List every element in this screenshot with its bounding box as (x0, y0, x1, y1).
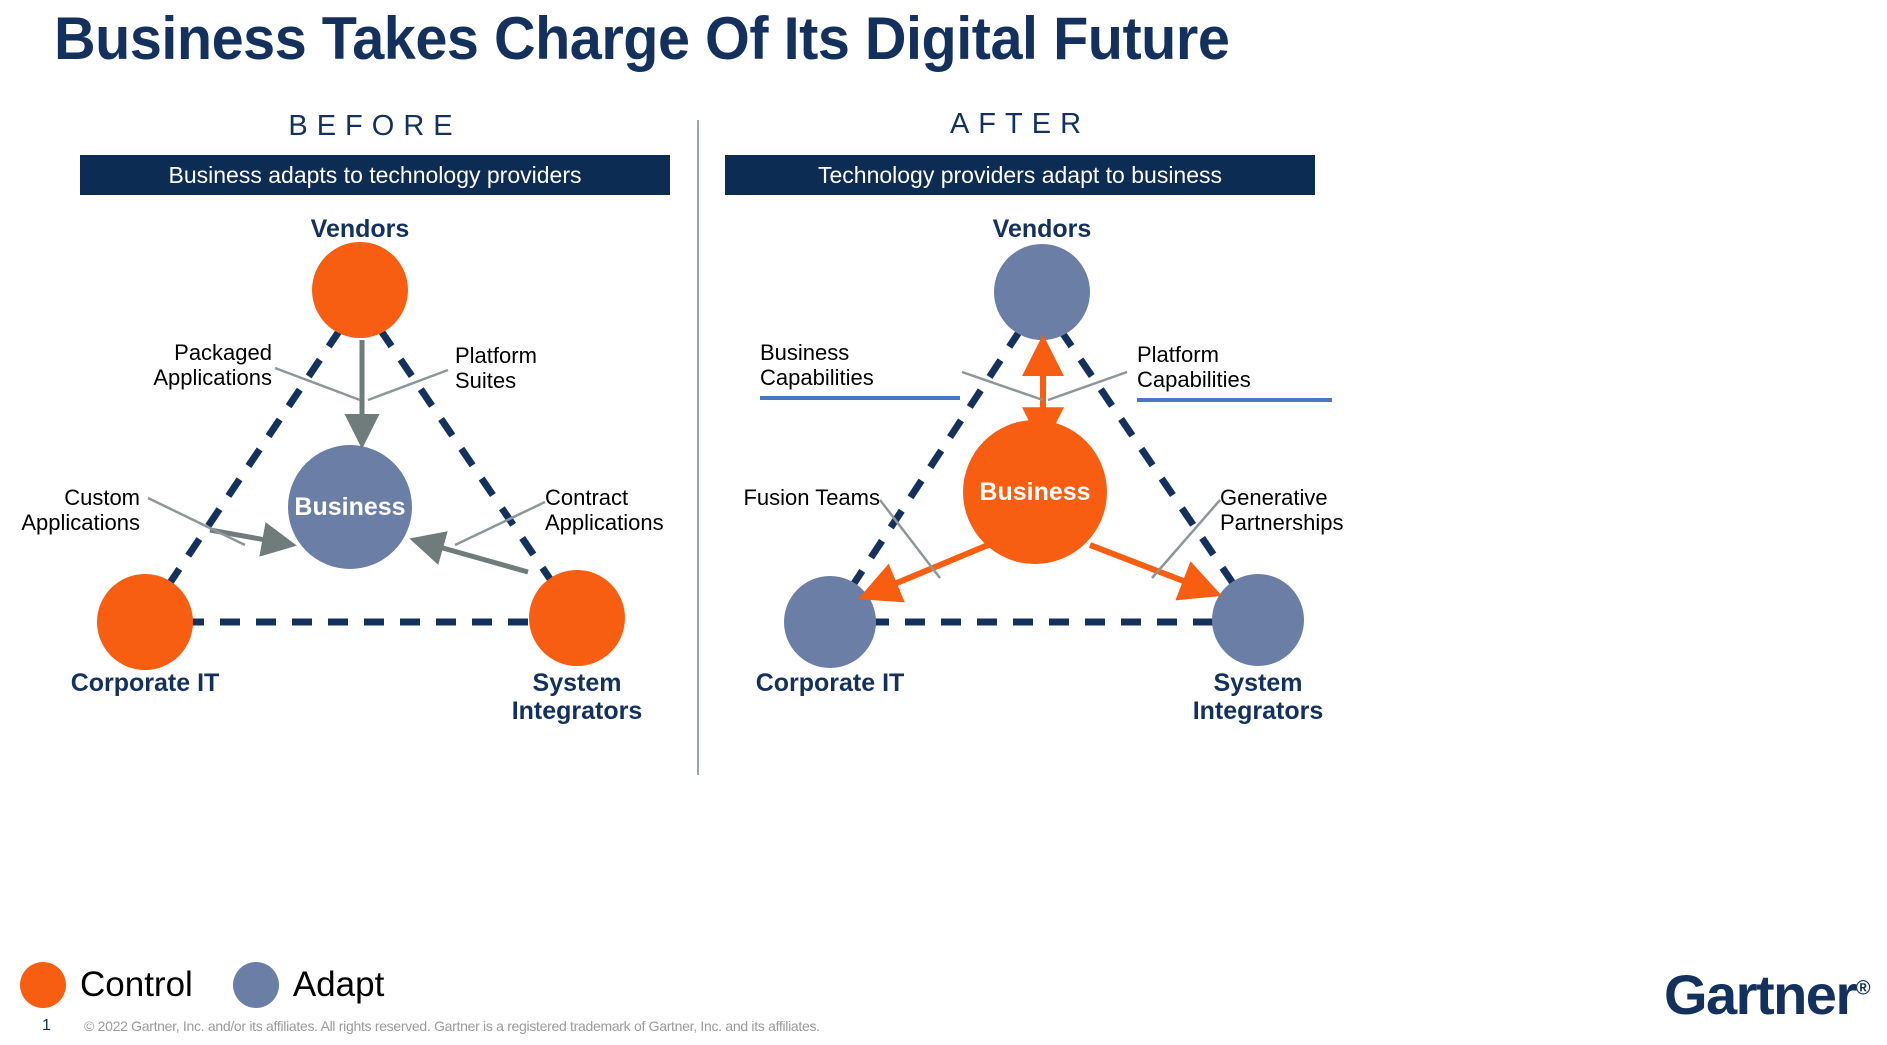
arrow-business-to-corporate-it (868, 545, 988, 595)
legend-item-control: Control (20, 962, 193, 1008)
system-line-1: System (533, 669, 622, 697)
custom-line-2: Applications (21, 510, 140, 535)
packaged-line-1: Packaged (174, 340, 272, 365)
legend-item-adapt: Adapt (233, 962, 384, 1008)
arrow-corporate-it-to-business (210, 530, 288, 544)
panel-banner-before: Business adapts to technology providers (80, 155, 670, 195)
underline-business-capabilities (760, 396, 960, 400)
node-label-corporate-it-before: Corporate IT (45, 670, 245, 698)
node-label-system-integrators-after: System Integrators (1158, 670, 1358, 725)
generative-line-1: Generative (1220, 485, 1328, 510)
platcap-line-2: Capabilities (1137, 367, 1251, 392)
node-vendors-after[interactable] (994, 244, 1090, 340)
gartner-logo-text: Gartner (1664, 963, 1856, 1026)
node-system-integrators-before[interactable] (529, 570, 625, 666)
contract-line-1: Contract (545, 485, 628, 510)
conn-label-fusion-teams: Fusion Teams (680, 485, 880, 510)
packaged-line-2: Applications (153, 365, 272, 390)
platform-line-2: Suites (455, 368, 516, 393)
registered-mark-icon: ® (1856, 977, 1869, 999)
platcap-line-1: Platform (1137, 342, 1219, 367)
node-vendors-before[interactable] (312, 242, 408, 338)
conn-label-custom-applications: Custom Applications (0, 485, 140, 536)
node-corporate-it-after[interactable] (784, 576, 876, 668)
conn-label-platform-capabilities: Platform Capabilities (1137, 342, 1332, 405)
legend-dot-adapt-icon (233, 962, 279, 1008)
system-line-2: Integrators (1193, 697, 1324, 725)
node-text-business-before: Business (250, 493, 450, 522)
conn-label-business-capabilities: Business Capabilities (760, 340, 960, 403)
node-text-business-after: Business (935, 478, 1135, 507)
platform-line-1: Platform (455, 343, 537, 368)
generative-line-2: Partnerships (1220, 510, 1344, 535)
bizcap-line-1: Business (760, 340, 849, 365)
arrow-system-integrators-to-business (418, 541, 528, 572)
arrow-business-to-system-integrators (1090, 545, 1212, 592)
conn-label-generative-partnerships: Generative Partnerships (1220, 485, 1450, 536)
diagram-after: Vendors Business Corporate IT System Int… (690, 200, 1690, 760)
page-number: 1 (42, 1017, 51, 1035)
underline-platform-capabilities (1137, 398, 1332, 402)
panel-banner-after: Technology providers adapt to business (725, 155, 1315, 195)
page-title: Business Takes Charge Of Its Digital Fut… (54, 4, 1229, 73)
legend-label-control: Control (80, 965, 193, 1005)
legend-dot-control-icon (20, 962, 66, 1008)
node-label-system-integrators-before: System Integrators (477, 670, 677, 725)
leader-fusion-teams (880, 500, 940, 578)
custom-line-1: Custom (64, 485, 140, 510)
panel-kicker-before: BEFORE (80, 110, 670, 143)
leader-platform-capabilities (1048, 372, 1127, 400)
bizcap-line-2: Capabilities (760, 365, 874, 390)
system-line-2: Integrators (512, 697, 643, 725)
legend-label-adapt: Adapt (293, 965, 384, 1005)
leader-packaged (275, 368, 360, 400)
panel-kicker-after: AFTER (725, 108, 1315, 141)
copyright-notice: © 2022 Gartner, Inc. and/or its affiliat… (84, 1018, 820, 1034)
conn-label-platform-suites: Platform Suites (455, 343, 665, 394)
node-corporate-it-before[interactable] (97, 574, 193, 670)
conn-label-packaged-applications: Packaged Applications (62, 340, 272, 391)
system-line-1: System (1214, 669, 1303, 697)
gartner-logo: Gartner® (1664, 962, 1869, 1027)
diagram-before: Vendors Business Corporate IT System Int… (0, 200, 700, 760)
leader-contract (455, 502, 545, 545)
node-label-corporate-it-after: Corporate IT (730, 670, 930, 698)
node-label-vendors-after: Vendors (942, 216, 1142, 244)
node-system-integrators-after[interactable] (1212, 574, 1304, 666)
legend: Control Adapt (20, 962, 410, 1008)
node-label-vendors-before: Vendors (260, 216, 460, 244)
contract-line-2: Applications (545, 510, 664, 535)
